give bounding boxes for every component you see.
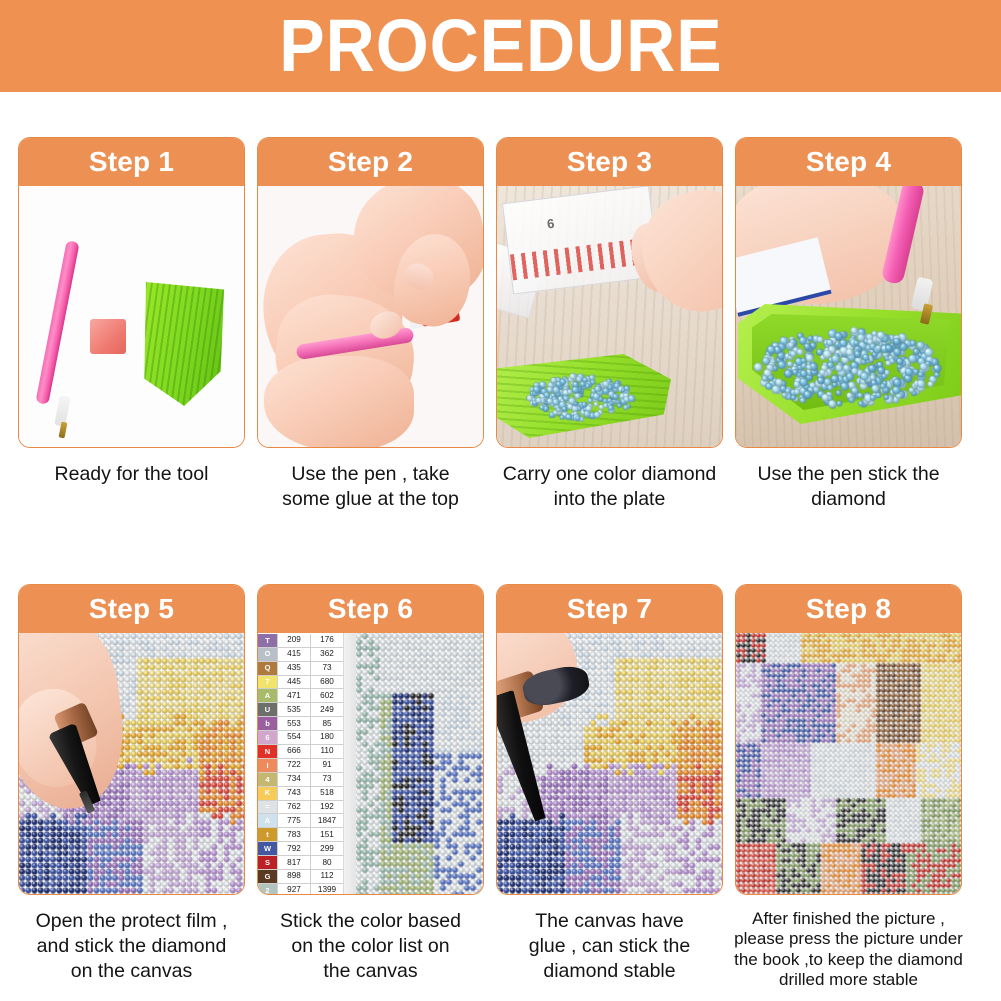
glue-dip-photo — [258, 186, 483, 447]
dmc-code-cell: 209 — [278, 634, 311, 647]
bead-count-cell: 112 — [311, 870, 343, 883]
header-banner: PROCEDURE — [0, 0, 1001, 92]
stick-diamond-photo — [19, 633, 244, 894]
color-list-row: =762192 — [258, 801, 343, 815]
pour-beads-photo: 6 — [497, 186, 722, 447]
step-card-2[interactable]: Step 2 — [257, 137, 484, 448]
step-caption-4: Use the pen stick the diamond — [730, 462, 968, 512]
steps-row-1: Step 1 Ready for th — [18, 137, 983, 512]
bead-count-cell: 180 — [311, 731, 343, 744]
step-card-8[interactable]: Step 8 — [735, 584, 962, 895]
step-badge-4: Step 4 — [736, 138, 961, 186]
color-swatch-symbol: = — [258, 801, 278, 814]
bead-count-cell: 602 — [311, 689, 343, 702]
color-list-row: O415362 — [258, 648, 343, 662]
finished-painting-photo — [736, 633, 961, 894]
step-card-6[interactable]: Step 6 T209176O415362Q435737445680A47160… — [257, 584, 484, 895]
color-swatch-symbol: T — [258, 634, 278, 647]
dmc-code-cell: 554 — [278, 731, 311, 744]
dmc-code-cell: 445 — [278, 676, 311, 689]
color-list-row: b55385 — [258, 717, 343, 731]
color-list-row: 29271399 — [258, 884, 343, 894]
dmc-code-cell: 783 — [278, 828, 311, 841]
color-swatch-symbol: b — [258, 717, 278, 730]
pick-bead-photo — [736, 186, 961, 447]
step-badge-label: Step 4 — [806, 148, 891, 176]
color-list-row: 473473 — [258, 773, 343, 787]
color-list-photo: T209176O415362Q435737445680A471602U53524… — [258, 633, 483, 894]
caption-line: diamond stable — [491, 959, 729, 984]
dmc-code-cell: 817 — [278, 856, 311, 869]
left-hand-palm-icon — [264, 356, 414, 447]
steps-row-2: Step 5 Open the protect — [18, 584, 983, 991]
step-caption-8: After finished the picture , please pres… — [724, 909, 974, 991]
step-badge-label: Step 7 — [567, 595, 652, 623]
color-swatch-symbol: 4 — [258, 773, 278, 786]
dmc-code-cell: 553 — [278, 717, 311, 730]
dmc-code-cell: 435 — [278, 662, 311, 675]
step-image-7 — [497, 633, 722, 894]
step-badge-label: Step 8 — [806, 595, 891, 623]
step-image-4 — [736, 186, 961, 447]
color-list-row: A7751847 — [258, 814, 343, 828]
color-swatch-symbol: U — [258, 703, 278, 716]
caption-line: please press the picture under — [724, 929, 974, 949]
step-cell-8: Step 8 After finished the picture , plea… — [735, 584, 962, 991]
caption-line: Open the protect film , — [13, 909, 251, 934]
bead-count-cell: 362 — [311, 648, 343, 661]
dmc-color-list-table: T209176O415362Q435737445680A471602U53524… — [258, 633, 344, 894]
color-swatch-symbol: G — [258, 870, 278, 883]
page-title: PROCEDURE — [279, 9, 722, 83]
step-badge-label: Step 5 — [89, 595, 174, 623]
color-list-row: G898112 — [258, 870, 343, 884]
bead-count-cell: 518 — [311, 787, 343, 800]
step-card-5[interactable]: Step 5 — [18, 584, 245, 895]
step-caption-6: Stick the color based on the color list … — [252, 909, 490, 984]
dmc-code-cell: 792 — [278, 842, 311, 855]
color-list-row: K743518 — [258, 787, 343, 801]
color-list-row: N666110 — [258, 745, 343, 759]
color-list-row: A471602 — [258, 689, 343, 703]
step-card-1[interactable]: Step 1 — [18, 137, 245, 448]
bead-count-cell: 85 — [311, 717, 343, 730]
step-image-5 — [19, 633, 244, 894]
step-cell-3: Step 3 6 — [496, 137, 723, 512]
dmc-code-cell: 927 — [278, 884, 311, 894]
bead-count-cell: 680 — [311, 676, 343, 689]
color-list-row: W792299 — [258, 842, 343, 856]
step-badge-label: Step 3 — [567, 148, 652, 176]
caption-line: on the color list on — [252, 934, 490, 959]
blue-beads-scatter — [497, 186, 722, 447]
step-badge-1: Step 1 — [19, 138, 244, 186]
step-card-3[interactable]: Step 3 6 — [496, 137, 723, 448]
step-cell-1: Step 1 Ready for th — [18, 137, 245, 512]
procedure-infographic: PROCEDURE Step 1 — [0, 0, 1001, 1001]
bead-count-cell: 91 — [311, 759, 343, 772]
dmc-code-cell: 666 — [278, 745, 311, 758]
color-list-row: S81780 — [258, 856, 343, 870]
step-image-3: 6 — [497, 186, 722, 447]
wax-square-icon — [90, 319, 126, 354]
bead-count-cell: 80 — [311, 856, 343, 869]
sticky-canvas-photo — [497, 633, 722, 894]
step-cell-4: Step 4 — [735, 137, 962, 512]
dmc-code-cell: 898 — [278, 870, 311, 883]
step-badge-3: Step 3 — [497, 138, 722, 186]
dmc-code-cell: 775 — [278, 814, 311, 827]
color-list-row: 6554180 — [258, 731, 343, 745]
color-list-row: T209176 — [258, 634, 343, 648]
caption-line: and stick the diamond — [13, 934, 251, 959]
bead-count-cell: 1399 — [311, 884, 343, 894]
color-swatch-symbol: 7 — [258, 676, 278, 689]
step-image-2 — [258, 186, 483, 447]
step-badge-label: Step 2 — [328, 148, 413, 176]
caption-line: After finished the picture , — [724, 909, 974, 929]
step-badge-2: Step 2 — [258, 138, 483, 186]
step-caption-1: Ready for the tool — [13, 462, 251, 487]
list-page-edge — [344, 633, 356, 894]
bead-count-cell: 151 — [311, 828, 343, 841]
caption-line: the book ,to keep the diamond — [724, 950, 974, 970]
step-badge-5: Step 5 — [19, 585, 244, 633]
step-card-7[interactable]: Step 7 — [496, 584, 723, 895]
color-swatch-symbol: A — [258, 689, 278, 702]
caption-line: glue , can stick the — [491, 934, 729, 959]
step-image-8 — [736, 633, 961, 894]
caption-line: Carry one color diamond — [491, 462, 729, 487]
step-badge-label: Step 6 — [328, 595, 413, 623]
step-caption-7: The canvas have glue , can stick the dia… — [491, 909, 729, 984]
bead-count-cell: 192 — [311, 801, 343, 814]
step-caption-5: Open the protect film , and stick the di… — [13, 909, 251, 984]
caption-line: The canvas have — [491, 909, 729, 934]
bead-count-cell: 299 — [311, 842, 343, 855]
dmc-code-cell: 734 — [278, 773, 311, 786]
caption-line: Use the pen , take — [252, 462, 490, 487]
step-image-6: T209176O415362Q435737445680A471602U53524… — [258, 633, 483, 894]
caption-line: drilled more stable — [724, 970, 974, 990]
dmc-code-cell: 415 — [278, 648, 311, 661]
bead-count-cell: 73 — [311, 662, 343, 675]
bead-count-cell: 73 — [311, 773, 343, 786]
color-list-row: 7445680 — [258, 676, 343, 690]
color-swatch-symbol: O — [258, 648, 278, 661]
color-swatch-symbol: N — [258, 745, 278, 758]
dmc-code-cell: 762 — [278, 801, 311, 814]
color-swatch-symbol: Q — [258, 662, 278, 675]
dmc-code-cell: 535 — [278, 703, 311, 716]
caption-line: on the canvas — [13, 959, 251, 984]
diamond-mosaic-canvas — [736, 633, 961, 894]
bead-count-cell: 176 — [311, 634, 343, 647]
color-list-row: Q43573 — [258, 662, 343, 676]
dmc-code-cell: 722 — [278, 759, 311, 772]
color-swatch-symbol: 6 — [258, 731, 278, 744]
bead-count-cell: 249 — [311, 703, 343, 716]
step-badge-7: Step 7 — [497, 585, 722, 633]
caption-line: diamond — [730, 487, 968, 512]
step-cell-5: Step 5 Open the protect — [18, 584, 245, 991]
step-badge-8: Step 8 — [736, 585, 961, 633]
caption-line: some glue at the top — [252, 487, 490, 512]
step-cell-7: Step 7 The canvas have glue — [496, 584, 723, 991]
step-caption-3: Carry one color diamond into the plate — [491, 462, 729, 512]
step-caption-2: Use the pen , take some glue at the top — [252, 462, 490, 512]
bead-count-cell: 1847 — [311, 814, 343, 827]
step-image-1 — [19, 186, 244, 447]
color-swatch-symbol: W — [258, 842, 278, 855]
steps-grid: Step 1 Ready for th — [18, 137, 983, 990]
color-list-row: I72291 — [258, 759, 343, 773]
caption-line: into the plate — [491, 487, 729, 512]
dmc-code-cell: 743 — [278, 787, 311, 800]
color-swatch-symbol: K — [258, 787, 278, 800]
color-swatch-symbol: t — [258, 828, 278, 841]
color-list-row: t783151 — [258, 828, 343, 842]
tools-photo — [19, 186, 244, 447]
step-cell-2: Step 2 — [257, 137, 484, 512]
dmc-code-cell: 471 — [278, 689, 311, 702]
color-swatch-symbol: A — [258, 814, 278, 827]
caption-line: Stick the color based — [252, 909, 490, 934]
bead-count-cell: 110 — [311, 745, 343, 758]
color-swatch-symbol: 2 — [258, 884, 278, 894]
caption-line: Use the pen stick the — [730, 462, 968, 487]
step-cell-6: Step 6 T209176O415362Q435737445680A47160… — [257, 584, 484, 991]
color-swatch-symbol: I — [258, 759, 278, 772]
caption-line: the canvas — [252, 959, 490, 984]
step-badge-6: Step 6 — [258, 585, 483, 633]
step-card-4[interactable]: Step 4 — [735, 137, 962, 448]
step-badge-label: Step 1 — [89, 148, 174, 176]
color-list-row: U535249 — [258, 703, 343, 717]
color-swatch-symbol: S — [258, 856, 278, 869]
